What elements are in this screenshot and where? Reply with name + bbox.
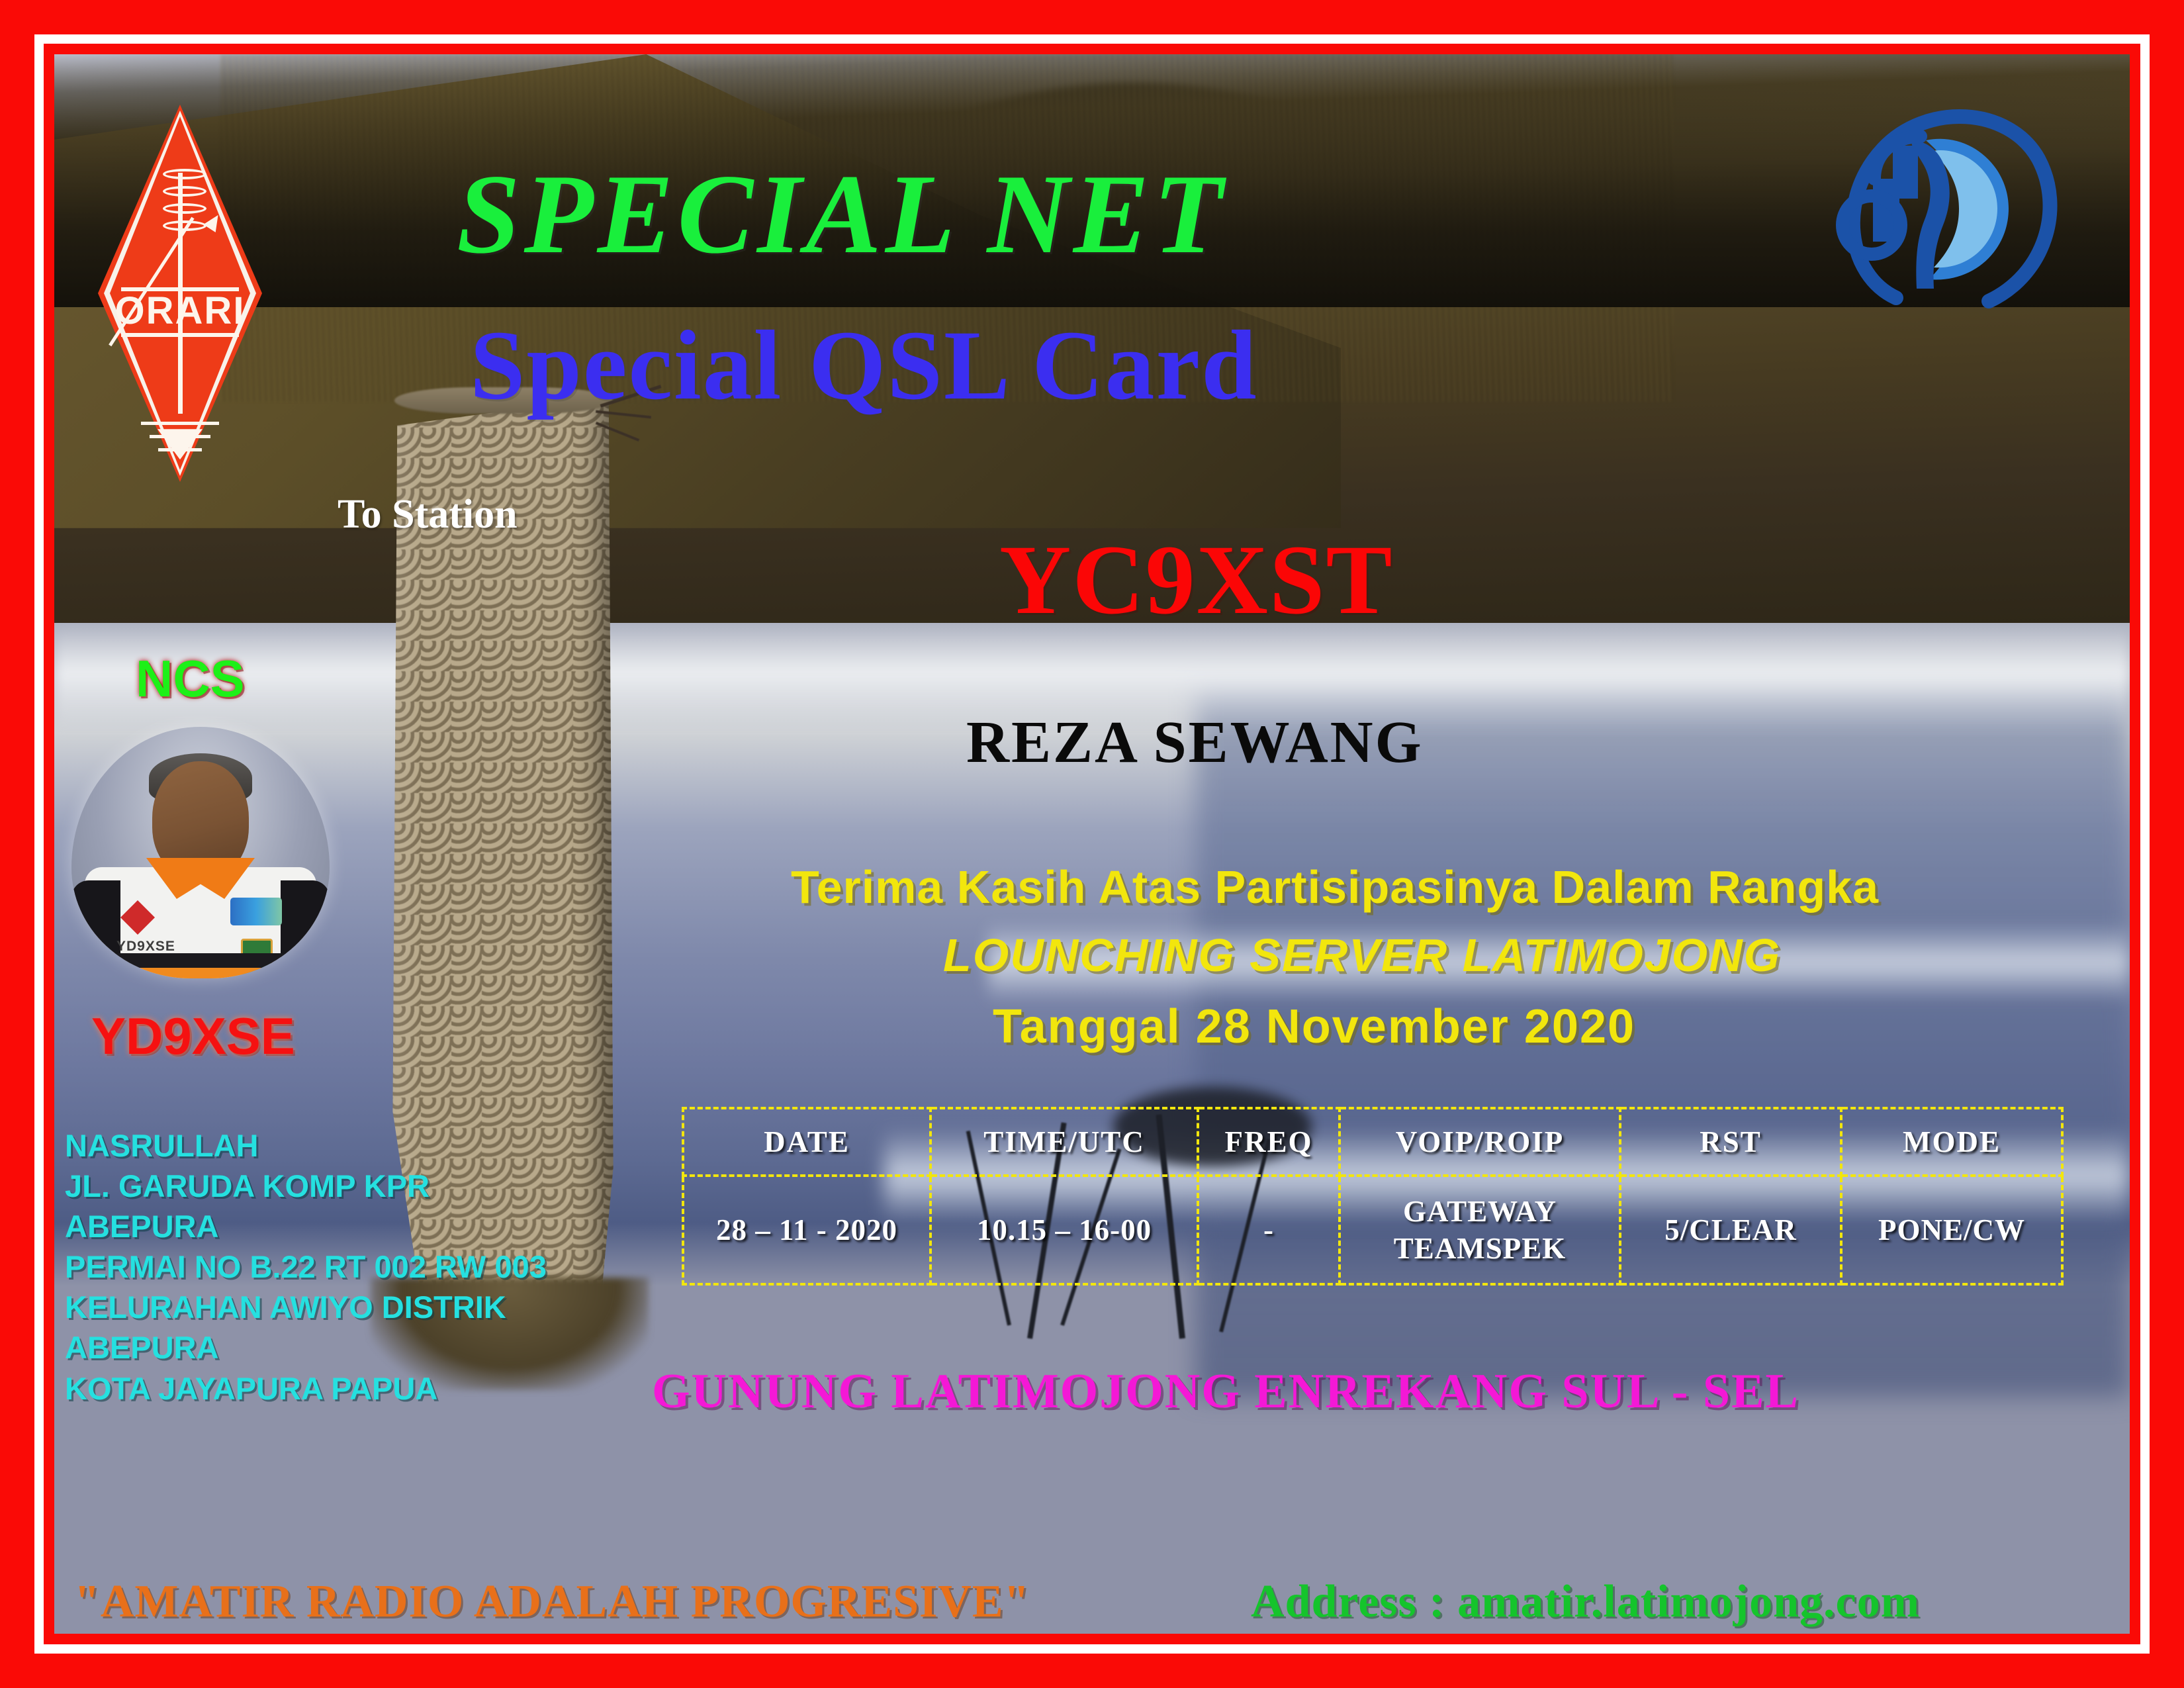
station-callsign: YC9XST	[999, 523, 1393, 637]
address-line: JL. GARUDA KOMP KPR	[65, 1166, 547, 1206]
cell-date: 28 – 11 - 2020	[683, 1176, 931, 1284]
address-line: KOTA JAYAPURA PAPUA	[65, 1368, 547, 1409]
col-header-voip-roip: VOIP/ROIP	[1340, 1108, 1620, 1176]
thanks-line-3-date: Tanggal 28 November 2020	[993, 1000, 1635, 1054]
location-line: GUNUNG LATIMOJONG ENREKANG SUL - SEL	[652, 1364, 1799, 1420]
orari-wordmark: ORARI	[98, 291, 262, 332]
col-header-time-utc: TIME/UTC	[931, 1108, 1198, 1176]
voip-headset-logo	[1833, 99, 2058, 318]
footer-web-address: Address : amatir.latimojong.com	[1251, 1575, 1920, 1628]
address-line: KELURAHAN AWIYO DISTRIK	[65, 1287, 547, 1327]
table-header-row: DATE TIME/UTC FREQ VOIP/ROIP RST MODE	[683, 1108, 2062, 1176]
footer-motto: "AMATIR RADIO ADALAH PROGRESIVE"	[74, 1575, 1030, 1628]
table-row: 28 – 11 - 2020 10.15 – 16-00 - GATEWAYTE…	[683, 1176, 2062, 1284]
address-line: ABEPURA	[65, 1327, 547, 1368]
cell-freq: -	[1198, 1176, 1340, 1284]
thanks-line-2-event: LOUNCHING SERVER LATIMOJONG	[943, 929, 1781, 982]
orari-bar-bottom	[121, 333, 240, 337]
cell-time-utc: 10.15 – 16-00	[931, 1176, 1198, 1284]
address-line: NASRULLAH	[65, 1125, 547, 1166]
col-header-rst: RST	[1620, 1108, 1841, 1176]
station-address-block: NASRULLAH JL. GARUDA KOMP KPR ABEPURA PE…	[65, 1125, 547, 1409]
cell-rst: 5/CLEAR	[1620, 1176, 1841, 1284]
address-line: PERMAI NO B.22 RT 002 RW 003	[65, 1246, 547, 1287]
cell-mode: PONE/CW	[1841, 1176, 2062, 1284]
ncs-label: NCS	[136, 649, 245, 709]
cell-voip-roip: GATEWAYTEAMSPEK	[1340, 1176, 1620, 1284]
page-title-special-net: SPECIAL NET	[457, 150, 1227, 280]
ncs-callsign: YD9XSE	[91, 1006, 295, 1066]
col-header-mode: MODE	[1841, 1108, 2062, 1176]
orari-ground-line-1	[141, 422, 219, 425]
orari-logo: ORARI	[98, 105, 262, 482]
col-header-date: DATE	[683, 1108, 931, 1176]
page-subtitle-special-qsl-card: Special QSL Card	[470, 308, 1258, 422]
to-station-label: To Station	[338, 491, 518, 538]
operator-name: REZA SEWANG	[966, 708, 1424, 776]
avatar-orange-sash	[71, 968, 330, 978]
thanks-line-1: Terima Kasih Atas Partisipasinya Dalam R…	[791, 861, 1879, 914]
qsl-card: ORARI SPECIAL NET Special QSL Card To St…	[0, 0, 2184, 1688]
qso-log-table: DATE TIME/UTC FREQ VOIP/ROIP RST MODE 28…	[682, 1107, 2064, 1286]
avatar-uniform-stripe	[71, 953, 330, 968]
col-header-freq: FREQ	[1198, 1108, 1340, 1176]
avatar-shoulder-patch-icon	[230, 898, 282, 925]
address-line: ABEPURA	[65, 1206, 547, 1246]
avatar-uniform-callsign-tag: YD9XSE	[116, 939, 175, 955]
voip-headset-icon	[1833, 99, 2058, 318]
